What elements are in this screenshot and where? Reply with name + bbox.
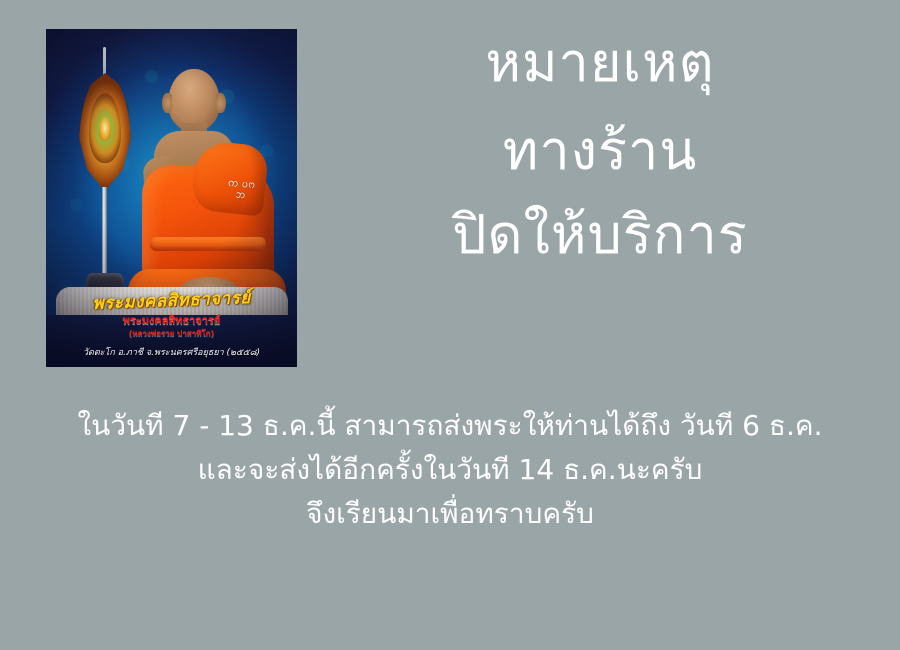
- photo-caption-temple: วัดตะโก อ.ภาชี จ.พระนครศรีอยุธยา (๒๕๕๘): [46, 345, 297, 359]
- body-line-2: และจะส่งได้อีกครั้งในวันที 14 ธ.ค.นะครับ: [20, 448, 880, 492]
- headline-shop: ทางร้าน: [320, 124, 880, 178]
- body-line-3: จึงเรียนมาเพื่อทราบครับ: [20, 492, 880, 536]
- headline-note: หมายเหตุ: [320, 36, 880, 90]
- monk-portrait-photo: ᨠ ᨷᨻ ᨽ พระมงคลสิทธาจารย์ พระมงคลสิทธาจาร…: [46, 29, 297, 367]
- photo-caption-subtitle: (หลวงพ่อรวย ปาสาทิโก): [46, 327, 297, 340]
- body-line-1: ในวันที 7 - 13 ธ.ค.นี้ สามารถส่งพระให้ท่…: [20, 404, 880, 448]
- headline-closed: ปิดให้บริการ: [320, 208, 880, 262]
- headline-block: หมายเหตุ ทางร้าน ปิดให้บริการ: [320, 26, 880, 262]
- announcement-poster: ᨠ ᨷᨻ ᨽ พระมงคลสิทธาจารย์ พระมงคลสิทธาจาร…: [0, 0, 900, 650]
- body-paragraph: ในวันที 7 - 13 ธ.ค.นี้ สามารถส่งพระให้ท่…: [20, 404, 880, 536]
